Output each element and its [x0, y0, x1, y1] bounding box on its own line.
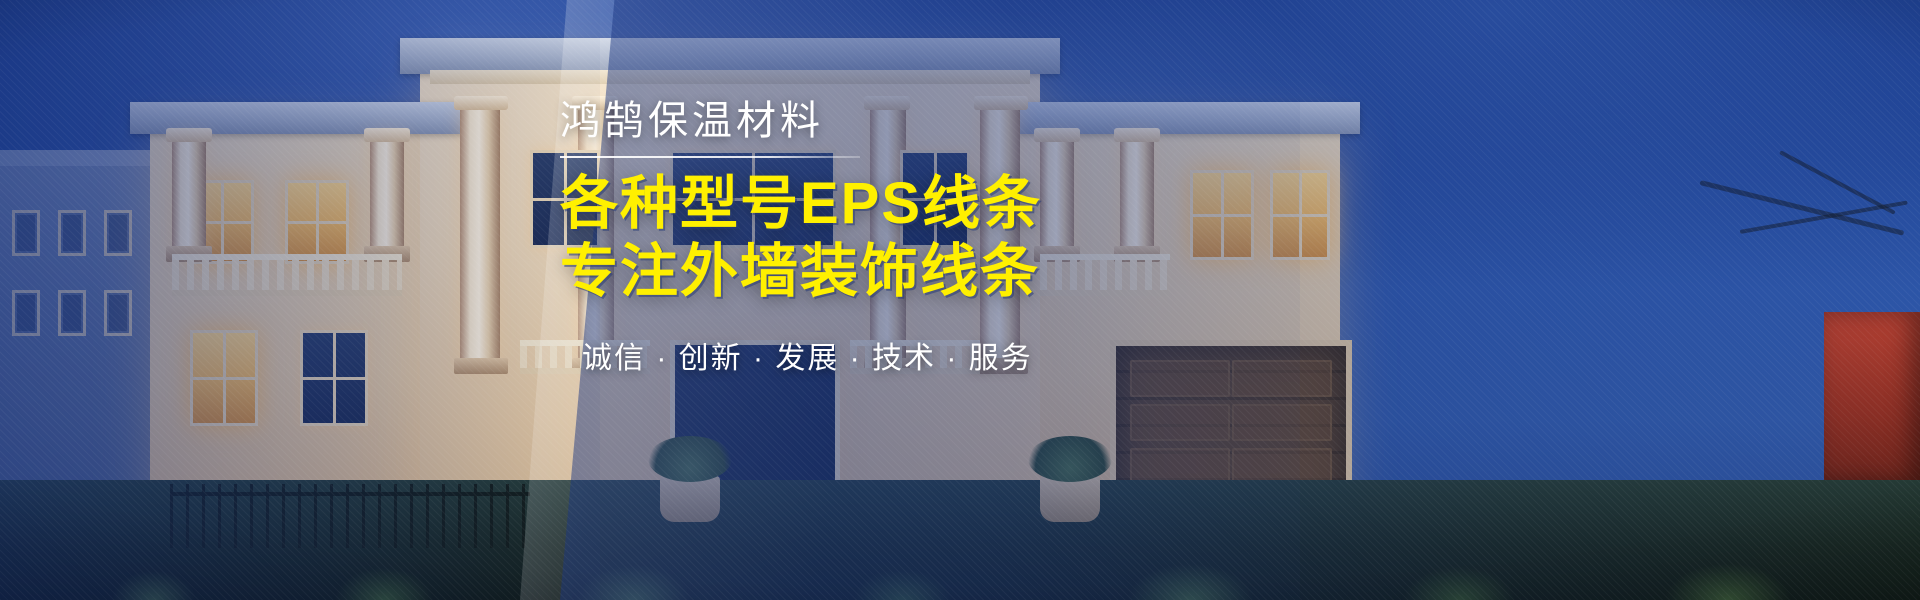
cornice-center: [400, 38, 1060, 74]
divider-rule: [560, 156, 860, 158]
banner-copy-block: 鸿鹄保温材料 各种型号EPS线条 专注外墙装饰线条 诚信 · 创新 · 发展 ·…: [560, 96, 1240, 377]
planter-left: [660, 476, 720, 522]
window-lit: [1270, 170, 1330, 260]
column-capital: [364, 128, 410, 142]
balustrade: [172, 254, 402, 296]
tagline: 诚信 · 创新 · 发展 · 技术 · 服务: [560, 333, 1240, 377]
red-container: [1824, 312, 1920, 482]
column: [172, 134, 206, 254]
column-capital: [166, 128, 212, 142]
column-base: [454, 358, 508, 374]
headline-line-1: 各种型号EPS线条: [560, 170, 1240, 238]
column-capital: [454, 96, 508, 110]
window-dark: [300, 330, 368, 426]
column: [370, 134, 404, 254]
column: [460, 106, 500, 366]
headline-line-2: 专注外墙装饰线条: [560, 238, 1240, 306]
planter-right: [1040, 476, 1100, 522]
window-lit: [285, 180, 349, 264]
brand-name: 鸿鹄保温材料: [560, 96, 1240, 146]
iron-fence: [170, 484, 530, 548]
cornice-center-band: [430, 70, 1030, 84]
window-lit: [190, 330, 258, 426]
hero-banner: 鸿鹄保温材料 各种型号EPS线条 专注外墙装饰线条 诚信 · 创新 · 发展 ·…: [0, 0, 1920, 600]
